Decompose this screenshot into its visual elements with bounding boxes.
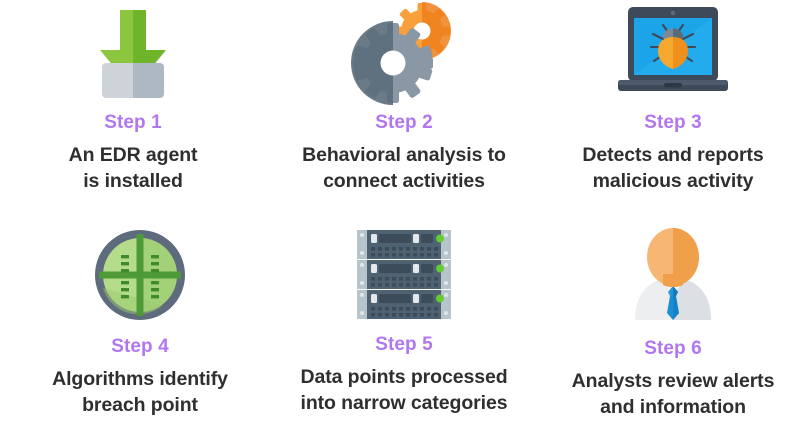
step-6-label: Step 6	[644, 338, 702, 360]
step-card-1: Step 1 An EDR agent is installed	[0, 0, 267, 208]
step-card-5: Step 5 Data points processed into narrow…	[269, 208, 539, 415]
step-3-label: Step 3	[644, 112, 702, 134]
step-4-description: Algorithms identify breach point	[52, 367, 228, 419]
server-rack-icon	[355, 228, 453, 320]
step-4-icon-slot	[6, 228, 274, 322]
steps-infographic: Step 1 An EDR agent is installed	[0, 0, 806, 415]
laptop-bug-icon	[610, 6, 736, 102]
step-3-icon-slot	[539, 4, 806, 104]
step-4-label: Step 4	[111, 336, 169, 358]
step-1-icon-slot	[0, 4, 267, 104]
step-2-description-line-1: Behavioral analysis to	[302, 143, 506, 169]
download-to-tray-icon	[94, 8, 172, 100]
step-5-icon-slot	[269, 228, 539, 320]
analyst-avatar-icon	[627, 228, 719, 324]
step-card-6: Step 6 Analysts review alerts and inform…	[539, 208, 806, 415]
step-3-description: Detects and reports malicious activity	[582, 143, 763, 195]
step-1-description: An EDR agent is installed	[69, 143, 198, 195]
step-6-description-line-1: Analysts review alerts	[572, 369, 775, 395]
step-6-icon-slot	[539, 228, 806, 324]
step-card-4: Step 4 Algorithms identify breach point	[6, 208, 274, 415]
gears-icon	[349, 5, 459, 103]
step-5-description-line-2: into narrow categories	[300, 391, 507, 417]
step-2-icon-slot	[269, 4, 539, 104]
step-6-description: Analysts review alerts and information	[572, 369, 775, 421]
step-card-3: Step 3 Detects and reports malicious act…	[539, 0, 806, 208]
step-card-2: Step 2 Behavioral analysis to connect ac…	[269, 0, 539, 208]
step-4-description-line-1: Algorithms identify	[52, 367, 228, 393]
crosshair-target-icon	[93, 228, 187, 322]
step-5-label: Step 5	[375, 334, 433, 356]
step-1-label: Step 1	[104, 112, 162, 134]
step-1-description-line-2: is installed	[69, 169, 198, 195]
step-1-description-line-1: An EDR agent	[69, 143, 198, 169]
step-2-label: Step 2	[375, 112, 433, 134]
step-5-description-line-1: Data points processed	[300, 365, 507, 391]
step-2-description: Behavioral analysis to connect activitie…	[302, 143, 506, 195]
step-6-description-line-2: and information	[572, 395, 775, 421]
step-3-description-line-1: Detects and reports	[582, 143, 763, 169]
step-3-description-line-2: malicious activity	[582, 169, 763, 195]
step-5-description: Data points processed into narrow catego…	[300, 365, 507, 417]
step-2-description-line-2: connect activities	[302, 169, 506, 195]
